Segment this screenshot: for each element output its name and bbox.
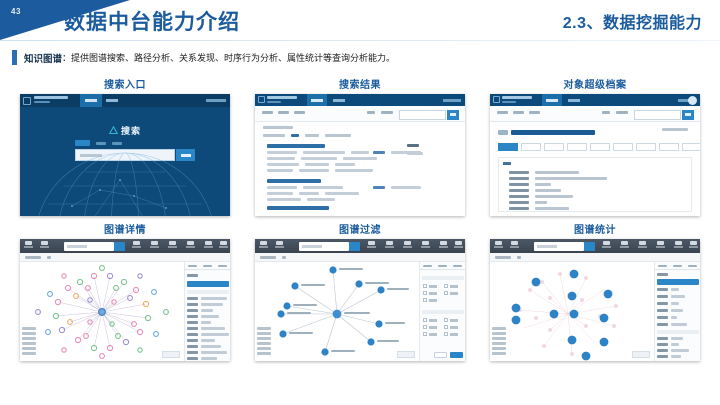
filter-checkbox[interactable] bbox=[444, 325, 462, 329]
search-toolbar bbox=[255, 106, 465, 122]
app-logo-subtext bbox=[502, 101, 516, 103]
export-icon[interactable] bbox=[204, 241, 213, 250]
graph-toolbar bbox=[255, 239, 465, 253]
graph-minimap[interactable] bbox=[397, 351, 415, 358]
filter-tab-1[interactable] bbox=[262, 111, 273, 114]
graph-scope-select[interactable] bbox=[260, 256, 276, 259]
archive-tabs[interactable] bbox=[498, 143, 700, 151]
page-number: 43 bbox=[11, 7, 21, 16]
panel-tabs[interactable] bbox=[420, 262, 465, 270]
path-icon[interactable] bbox=[656, 241, 665, 250]
company-badge-icon bbox=[498, 130, 508, 135]
panel-tab-1[interactable] bbox=[655, 262, 670, 270]
app-navbar bbox=[490, 94, 700, 106]
search-scope-select[interactable] bbox=[381, 111, 393, 114]
company-title bbox=[498, 130, 595, 135]
search-input[interactable] bbox=[634, 110, 681, 120]
nav-tab-active[interactable] bbox=[542, 94, 562, 106]
tab-5[interactable] bbox=[590, 143, 610, 151]
header-divider bbox=[0, 40, 720, 41]
nav-tab-active[interactable] bbox=[307, 94, 327, 106]
panel-tabs[interactable] bbox=[655, 262, 700, 270]
tab-2[interactable] bbox=[521, 143, 541, 151]
filter-checkbox[interactable] bbox=[423, 291, 441, 295]
filter-icon[interactable] bbox=[638, 241, 647, 250]
filter-checkbox[interactable] bbox=[444, 332, 462, 336]
graph-minimap[interactable] bbox=[162, 351, 180, 358]
panel-tabs[interactable] bbox=[185, 262, 230, 270]
filter-apply-button[interactable] bbox=[450, 352, 463, 358]
path-icon[interactable] bbox=[186, 241, 195, 250]
bullet-description: ：提供图谱搜索、路径分析、关系发现、时序行为分析、属性统计等查询分析能力。 bbox=[62, 51, 395, 64]
filter-checkbox[interactable] bbox=[423, 298, 441, 302]
tab-9[interactable] bbox=[682, 143, 700, 151]
panel-tab-2[interactable] bbox=[670, 262, 685, 270]
filter-tab-2[interactable] bbox=[278, 111, 289, 114]
graph-legend bbox=[492, 327, 506, 357]
graph-visualization[interactable] bbox=[20, 262, 184, 361]
search-button[interactable] bbox=[447, 110, 459, 120]
nav-tab-secondary[interactable] bbox=[106, 99, 118, 102]
filter-group-node-type bbox=[422, 276, 464, 280]
expand-icon[interactable] bbox=[132, 241, 141, 250]
app-logo-icon bbox=[493, 96, 500, 103]
globe-decoration-icon bbox=[30, 146, 220, 216]
panel-tab-1[interactable] bbox=[420, 262, 435, 270]
graph-search-button[interactable] bbox=[349, 242, 360, 251]
nav-tab-secondary[interactable] bbox=[568, 99, 580, 102]
layout-icon[interactable] bbox=[150, 241, 159, 250]
graph-canvas[interactable] bbox=[255, 262, 419, 361]
search-type-select[interactable] bbox=[367, 111, 375, 114]
settings-icon[interactable] bbox=[454, 241, 463, 250]
filter-chip-2[interactable] bbox=[305, 134, 319, 137]
filter-checkbox[interactable] bbox=[423, 325, 441, 329]
filter-tab-3[interactable] bbox=[529, 111, 540, 114]
screenshot-graph-filter[interactable] bbox=[255, 239, 465, 361]
search-button[interactable] bbox=[682, 110, 694, 120]
graph-search-button[interactable] bbox=[114, 242, 125, 251]
nav-tab-secondary[interactable] bbox=[333, 99, 345, 102]
search-brand-label: 搜索 bbox=[121, 124, 141, 137]
thumbnail-cell-graph-detail: 图谱详情 bbox=[20, 221, 230, 361]
app-logo-icon bbox=[23, 97, 31, 105]
filter-tab-1[interactable] bbox=[497, 111, 508, 114]
redo-icon[interactable] bbox=[510, 241, 519, 250]
tab-6[interactable] bbox=[613, 143, 633, 151]
graph-visualization[interactable] bbox=[255, 262, 419, 361]
page-title: 数据中台能力介绍 bbox=[64, 6, 240, 36]
scope-tab-2[interactable] bbox=[96, 142, 106, 145]
panel-tab-1[interactable] bbox=[185, 262, 200, 270]
result-count bbox=[263, 134, 285, 137]
graph-search-input[interactable] bbox=[299, 242, 349, 251]
thumbnail-label-graph-stats: 图谱统计 bbox=[490, 221, 700, 236]
filter-icon[interactable] bbox=[403, 241, 412, 250]
graph-scope-select[interactable] bbox=[25, 256, 41, 259]
breadcrumb bbox=[263, 126, 293, 129]
archive-detail-panel bbox=[498, 157, 692, 212]
bullet-keyword: 知识图谱 bbox=[24, 51, 62, 65]
screenshot-graph-detail[interactable] bbox=[20, 239, 230, 361]
graph-filter-panel bbox=[419, 262, 465, 361]
expand-icon[interactable] bbox=[367, 241, 376, 250]
redo-icon[interactable] bbox=[275, 241, 284, 250]
graph-search-input[interactable] bbox=[64, 242, 114, 251]
layout-icon[interactable] bbox=[620, 241, 629, 250]
graph-breadcrumb-bar bbox=[255, 253, 465, 262]
filter-reset-button[interactable] bbox=[434, 352, 447, 358]
graph-add-icon[interactable] bbox=[517, 256, 521, 259]
tab-8[interactable] bbox=[659, 143, 679, 151]
app-logo-text bbox=[502, 96, 532, 99]
avatar[interactable] bbox=[688, 96, 697, 105]
graph-search-input[interactable] bbox=[534, 242, 584, 251]
panel-tab-3[interactable] bbox=[685, 262, 700, 270]
sidebar-item[interactable] bbox=[407, 152, 423, 155]
graph-detail-panel bbox=[184, 262, 230, 361]
panel-tab-2[interactable] bbox=[435, 262, 450, 270]
screenshot-search-entry[interactable]: 搜索 bbox=[20, 94, 230, 216]
app-navbar bbox=[20, 94, 230, 107]
filter-tab-3[interactable] bbox=[294, 111, 305, 114]
nav-user-area[interactable] bbox=[206, 99, 226, 102]
undo-icon[interactable] bbox=[24, 241, 33, 250]
thumbnail-cell-search-results: 搜索结果 bbox=[255, 76, 465, 216]
filter-checkbox[interactable] bbox=[444, 291, 462, 295]
graph-scope-select[interactable] bbox=[495, 256, 511, 259]
thumbnail-cell-graph-filter: 图谱过滤 bbox=[255, 221, 465, 361]
graph-stats-panel bbox=[654, 262, 700, 361]
thumbnail-label-search-entry: 搜索入口 bbox=[20, 76, 230, 91]
export-icon[interactable] bbox=[674, 241, 683, 250]
filter-chip-3[interactable] bbox=[325, 134, 351, 137]
panel-tab-3[interactable] bbox=[450, 262, 465, 270]
search-toolbar bbox=[490, 106, 700, 122]
graph-breadcrumb-bar bbox=[20, 253, 230, 262]
screenshot-object-archive[interactable] bbox=[490, 94, 700, 216]
path-icon[interactable] bbox=[421, 241, 430, 250]
screenshot-search-results[interactable] bbox=[255, 94, 465, 216]
search-input[interactable] bbox=[399, 110, 446, 120]
redo-icon[interactable] bbox=[40, 241, 49, 250]
settings-icon[interactable] bbox=[219, 241, 228, 250]
thumbnail-cell-object-archive: 对象超级档案 bbox=[490, 76, 700, 216]
filter-checkbox[interactable] bbox=[444, 318, 462, 322]
graph-legend bbox=[22, 327, 36, 357]
filter-tab-2[interactable] bbox=[513, 111, 524, 114]
filter-checkbox[interactable] bbox=[444, 284, 462, 288]
nav-tab-active[interactable] bbox=[80, 94, 102, 107]
tab-overview[interactable] bbox=[498, 143, 518, 151]
search-brand: 搜索 bbox=[109, 124, 141, 137]
thumbnail-label-object-archive: 对象超级档案 bbox=[490, 76, 700, 91]
filter-icon[interactable] bbox=[168, 241, 177, 250]
app-logo-text bbox=[267, 96, 297, 99]
graph-add-icon[interactable] bbox=[282, 256, 286, 259]
stats-row-selected[interactable] bbox=[657, 279, 699, 285]
app-logo-text bbox=[34, 96, 68, 99]
undo-icon[interactable] bbox=[494, 241, 503, 250]
tab-7[interactable] bbox=[636, 143, 656, 151]
panel-heading bbox=[503, 162, 511, 165]
graph-minimap[interactable] bbox=[632, 351, 650, 358]
graph-canvas[interactable] bbox=[490, 262, 654, 361]
selected-node-row[interactable] bbox=[187, 281, 229, 287]
tab-3[interactable] bbox=[544, 143, 564, 151]
app-logo-subtext bbox=[267, 101, 281, 103]
section-title: 2.3、数据挖掘能力 bbox=[563, 9, 702, 33]
property-group-header bbox=[187, 290, 229, 294]
scope-tab-3[interactable] bbox=[112, 142, 122, 145]
thumbnail-cell-search-entry: 搜索入口 搜索 bbox=[20, 76, 230, 216]
thumbnail-label-search-results: 搜索结果 bbox=[255, 76, 465, 91]
screenshot-graph-stats[interactable] bbox=[490, 239, 700, 361]
graph-legend bbox=[257, 327, 271, 357]
slide-root: 43 数据中台能力介绍 2.3、数据挖掘能力 知识图谱 ：提供图谱搜索、路径分析… bbox=[0, 0, 720, 405]
filter-group-edge-type bbox=[422, 310, 464, 314]
graph-search-button[interactable] bbox=[584, 242, 595, 251]
archive-action-link[interactable] bbox=[662, 128, 688, 131]
thumbnail-label-graph-detail: 图谱详情 bbox=[20, 221, 230, 236]
thumbnail-cell-graph-stats: 图谱统计 bbox=[490, 221, 700, 361]
filter-checkbox[interactable] bbox=[423, 332, 441, 336]
thumbnail-label-graph-filter: 图谱过滤 bbox=[255, 221, 465, 236]
graph-add-icon[interactable] bbox=[47, 256, 51, 259]
app-logo-subtext bbox=[34, 101, 50, 103]
graph-canvas[interactable] bbox=[20, 262, 184, 361]
export-icon[interactable] bbox=[439, 241, 448, 250]
app-navbar bbox=[255, 94, 465, 106]
company-name bbox=[511, 130, 595, 135]
filter-chip-1[interactable] bbox=[291, 134, 299, 137]
settings-icon[interactable] bbox=[689, 241, 698, 250]
graph-visualization[interactable] bbox=[490, 262, 654, 361]
tab-4[interactable] bbox=[567, 143, 587, 151]
layout-icon[interactable] bbox=[385, 241, 394, 250]
panel-tab-3[interactable] bbox=[215, 262, 230, 270]
bullet-marker-icon bbox=[12, 50, 17, 65]
nav-user-area[interactable] bbox=[443, 99, 461, 102]
graph-breadcrumb-bar bbox=[490, 253, 700, 262]
sidebar-heading bbox=[407, 144, 419, 147]
expand-icon[interactable] bbox=[602, 241, 611, 250]
graph-toolbar bbox=[20, 239, 230, 253]
panel-tab-2[interactable] bbox=[200, 262, 215, 270]
filter-checkbox[interactable] bbox=[423, 284, 441, 288]
undo-icon[interactable] bbox=[259, 241, 268, 250]
search-type-select[interactable] bbox=[602, 111, 610, 114]
triangle-logo-icon bbox=[109, 126, 118, 135]
filter-checkbox[interactable] bbox=[423, 318, 441, 322]
bullet-row: 知识图谱 ：提供图谱搜索、路径分析、关系发现、时序行为分析、属性统计等查询分析能… bbox=[12, 50, 395, 65]
graph-toolbar bbox=[490, 239, 700, 253]
stats-group-header bbox=[657, 330, 699, 334]
search-scope-select[interactable] bbox=[616, 111, 628, 114]
app-logo-icon bbox=[258, 96, 265, 103]
